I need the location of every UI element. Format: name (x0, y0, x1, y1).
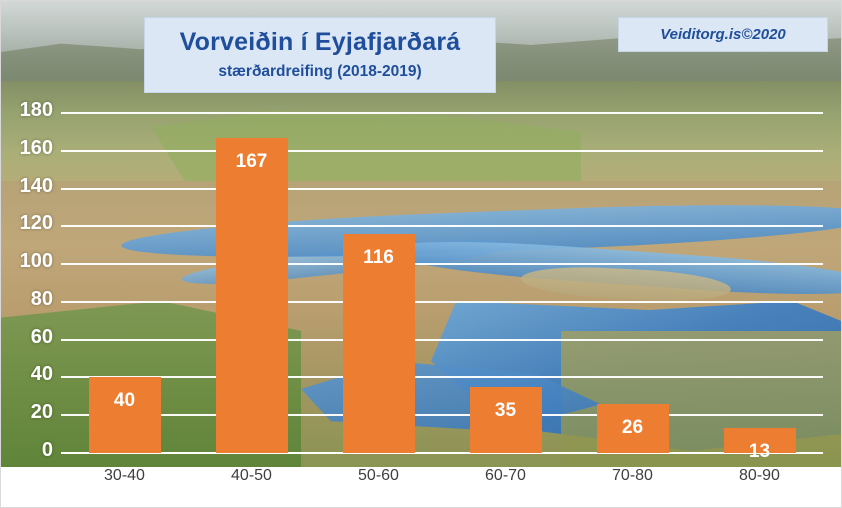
x-axis-tick-label: 60-70 (456, 467, 556, 485)
y-axis-tick-label: 180 (3, 99, 53, 122)
gridline (61, 225, 823, 227)
bar-value-label: 26 (597, 417, 669, 439)
x-axis-tick-label: 40-50 (202, 467, 302, 485)
gridline (61, 112, 823, 114)
plot-area: 020406080100120140160180 40167116352613 … (61, 113, 823, 453)
x-axis-tick-label: 70-80 (583, 467, 683, 485)
y-axis-tick-label: 100 (3, 250, 53, 273)
bar-value-label: 35 (470, 400, 542, 422)
gridline (61, 188, 823, 190)
gridline (61, 301, 823, 303)
bar-value-label: 167 (216, 151, 288, 173)
bar-value-label: 116 (343, 247, 415, 269)
gridline (61, 263, 823, 265)
y-axis-tick-label: 20 (3, 401, 53, 424)
bar (216, 138, 288, 453)
bar-value-label: 13 (724, 441, 796, 463)
x-axis-tick-label: 30-40 (75, 467, 175, 485)
x-axis-tick-label: 50-60 (329, 467, 429, 485)
bar-value-label: 40 (89, 390, 161, 412)
chart-screenshot: Vorveiðin í Eyjafjarðará stærðardreifing… (0, 0, 842, 508)
x-axis-tick-label: 80-90 (710, 467, 810, 485)
x-axis-line (61, 452, 823, 454)
gridline (61, 150, 823, 152)
chart-title: Vorveiðin í Eyjafjarðará (180, 29, 461, 57)
y-axis-tick-label: 40 (3, 363, 53, 386)
y-axis-tick-label: 0 (3, 439, 53, 462)
chart-title-box: Vorveiðin í Eyjafjarðará stærðardreifing… (144, 17, 496, 93)
y-axis-tick-label: 140 (3, 175, 53, 198)
y-axis-tick-label: 120 (3, 212, 53, 235)
gridline (61, 376, 823, 378)
gridline (61, 339, 823, 341)
credit-box: Veiditorg.is©2020 (618, 17, 828, 52)
y-axis-tick-label: 60 (3, 326, 53, 349)
bar (89, 377, 161, 453)
credit-label: Veiditorg.is©2020 (660, 26, 786, 43)
chart-subtitle: stærðardreifing (2018-2019) (218, 63, 421, 81)
gridline (61, 414, 823, 416)
y-axis-tick-label: 160 (3, 137, 53, 160)
y-axis-tick-label: 80 (3, 288, 53, 311)
